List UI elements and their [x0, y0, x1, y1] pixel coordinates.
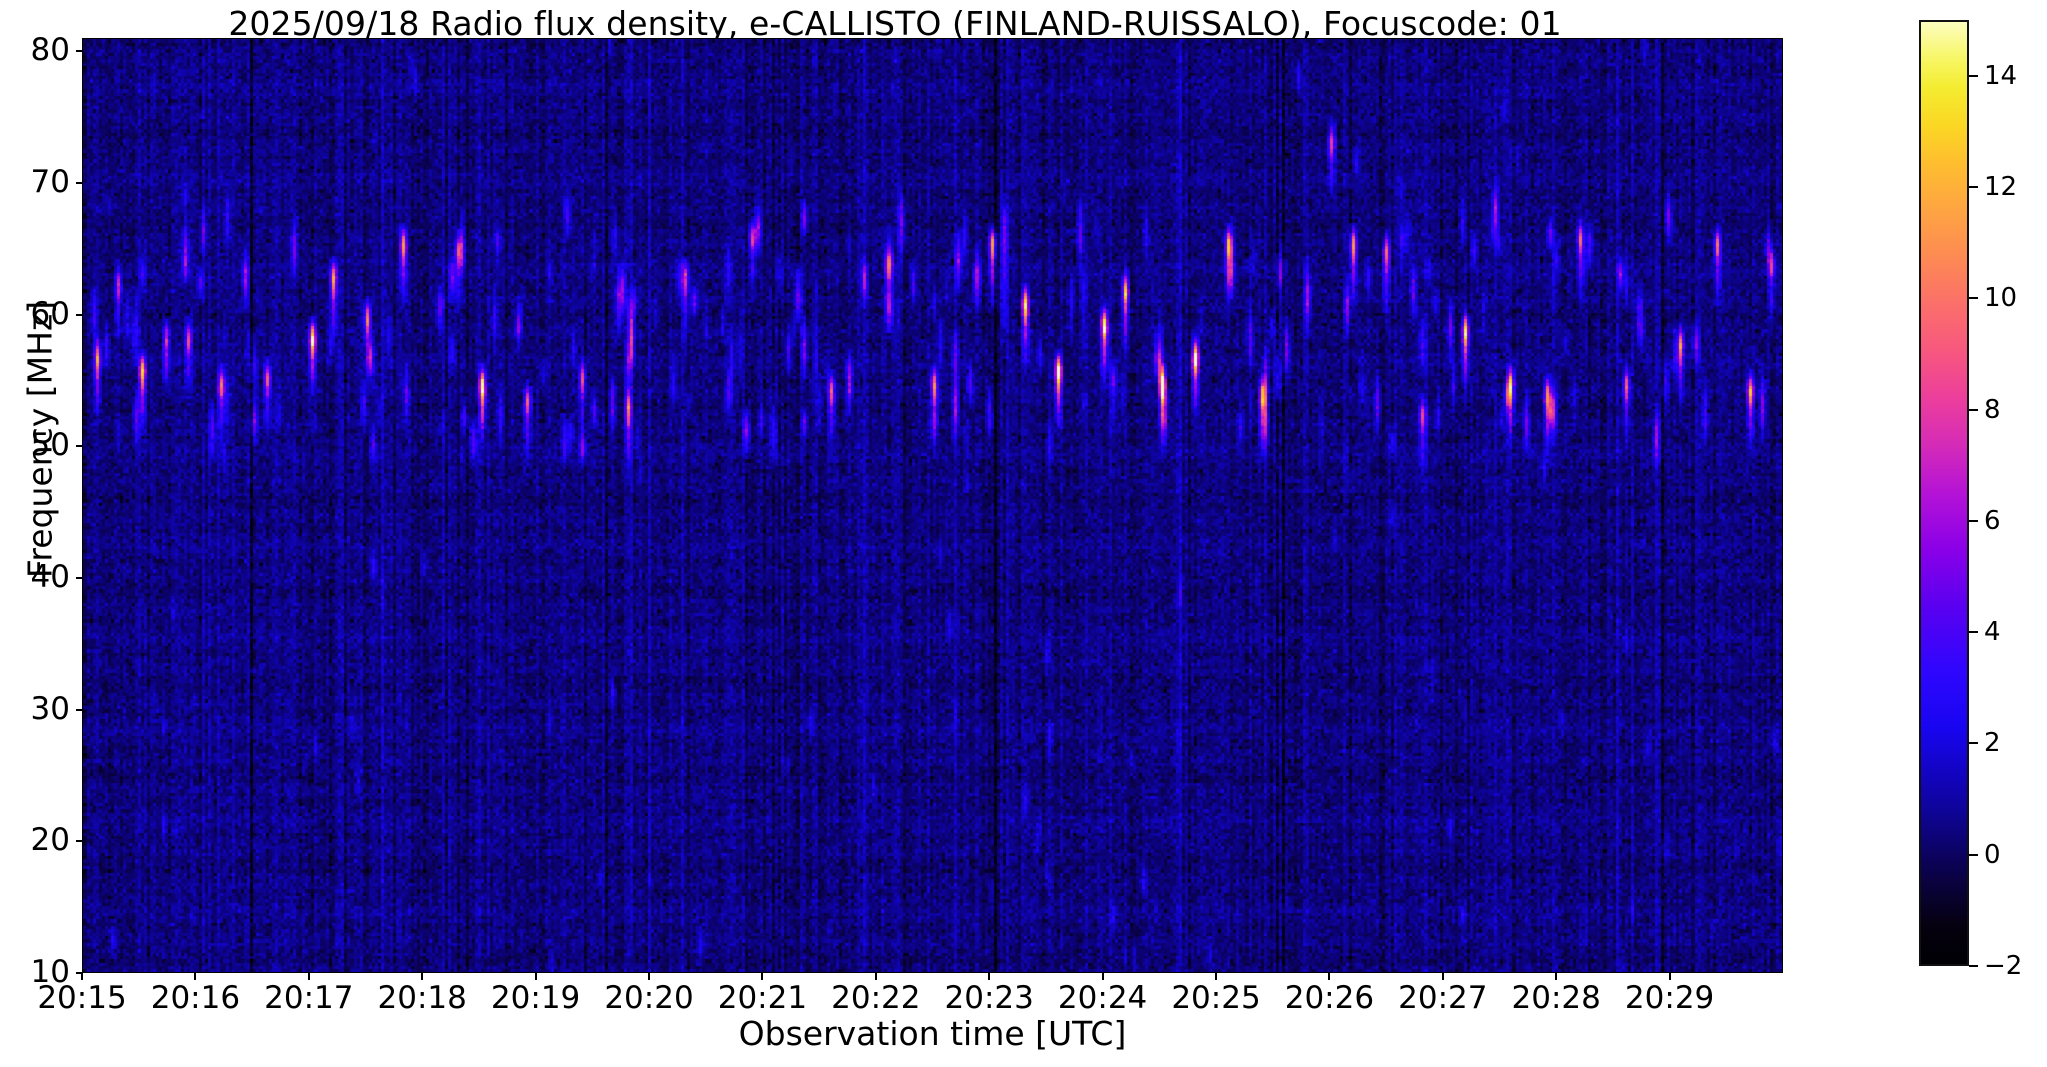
- y-tick-label: 20: [8, 825, 70, 856]
- colorbar-tick-mark: [1969, 409, 1978, 411]
- colorbar-tick-mark: [1969, 965, 1978, 967]
- x-tick-mark: [308, 973, 310, 980]
- spectrogram-image: [83, 39, 1782, 972]
- colorbar-tick-label: 12: [1984, 174, 2017, 200]
- x-axis-label: Observation time [UTC]: [82, 1014, 1783, 1053]
- y-tick-mark: [76, 314, 83, 316]
- y-tick-label: 70: [8, 167, 70, 198]
- colorbar-tick-label: 14: [1984, 63, 2017, 89]
- y-tick-label: 80: [8, 35, 70, 66]
- y-tick-mark: [76, 50, 83, 52]
- colorbar-tick-mark: [1969, 75, 1978, 77]
- x-tick-mark: [1328, 973, 1330, 980]
- colorbar-tick-mark: [1969, 186, 1978, 188]
- colorbar-tick-mark: [1969, 854, 1978, 856]
- x-tick-mark: [1555, 973, 1557, 980]
- x-tick-label: 20:29: [1595, 983, 1745, 1014]
- x-tick-mark: [421, 973, 423, 980]
- y-tick-mark: [76, 577, 83, 579]
- x-tick-mark: [81, 973, 83, 980]
- colorbar-tick-label: 4: [1984, 619, 2001, 645]
- colorbar-tick-mark: [1969, 631, 1978, 633]
- spectrogram-figure: 2025/09/18 Radio flux density, e-CALLIST…: [0, 0, 2047, 1067]
- x-tick-mark: [875, 973, 877, 980]
- y-axis-label: Frequency [MHz]: [21, 240, 60, 640]
- colorbar-tick-label: 0: [1984, 842, 2001, 868]
- y-tick-mark: [76, 182, 83, 184]
- y-tick-label: 30: [8, 694, 70, 725]
- colorbar: [1919, 20, 1969, 966]
- colorbar-tick-label: −2: [1984, 953, 2022, 979]
- colorbar-tick-mark: [1969, 297, 1978, 299]
- spectrogram-plot-area: [82, 38, 1783, 973]
- x-tick-mark: [1669, 973, 1671, 980]
- x-tick-mark: [648, 973, 650, 980]
- x-tick-mark: [761, 973, 763, 980]
- colorbar-tick-label: 8: [1984, 397, 2001, 423]
- colorbar-tick-label: 10: [1984, 285, 2017, 311]
- x-tick-mark: [1215, 973, 1217, 980]
- colorbar-tick-label: 6: [1984, 508, 2001, 534]
- x-tick-mark: [535, 973, 537, 980]
- colorbar-tick-label: 2: [1984, 730, 2001, 756]
- y-tick-mark: [76, 840, 83, 842]
- x-tick-mark: [1442, 973, 1444, 980]
- x-tick-mark: [1102, 973, 1104, 980]
- y-tick-mark: [76, 709, 83, 711]
- colorbar-tick-mark: [1969, 520, 1978, 522]
- x-tick-mark: [194, 973, 196, 980]
- x-tick-mark: [988, 973, 990, 980]
- colorbar-tick-mark: [1969, 742, 1978, 744]
- y-tick-mark: [76, 445, 83, 447]
